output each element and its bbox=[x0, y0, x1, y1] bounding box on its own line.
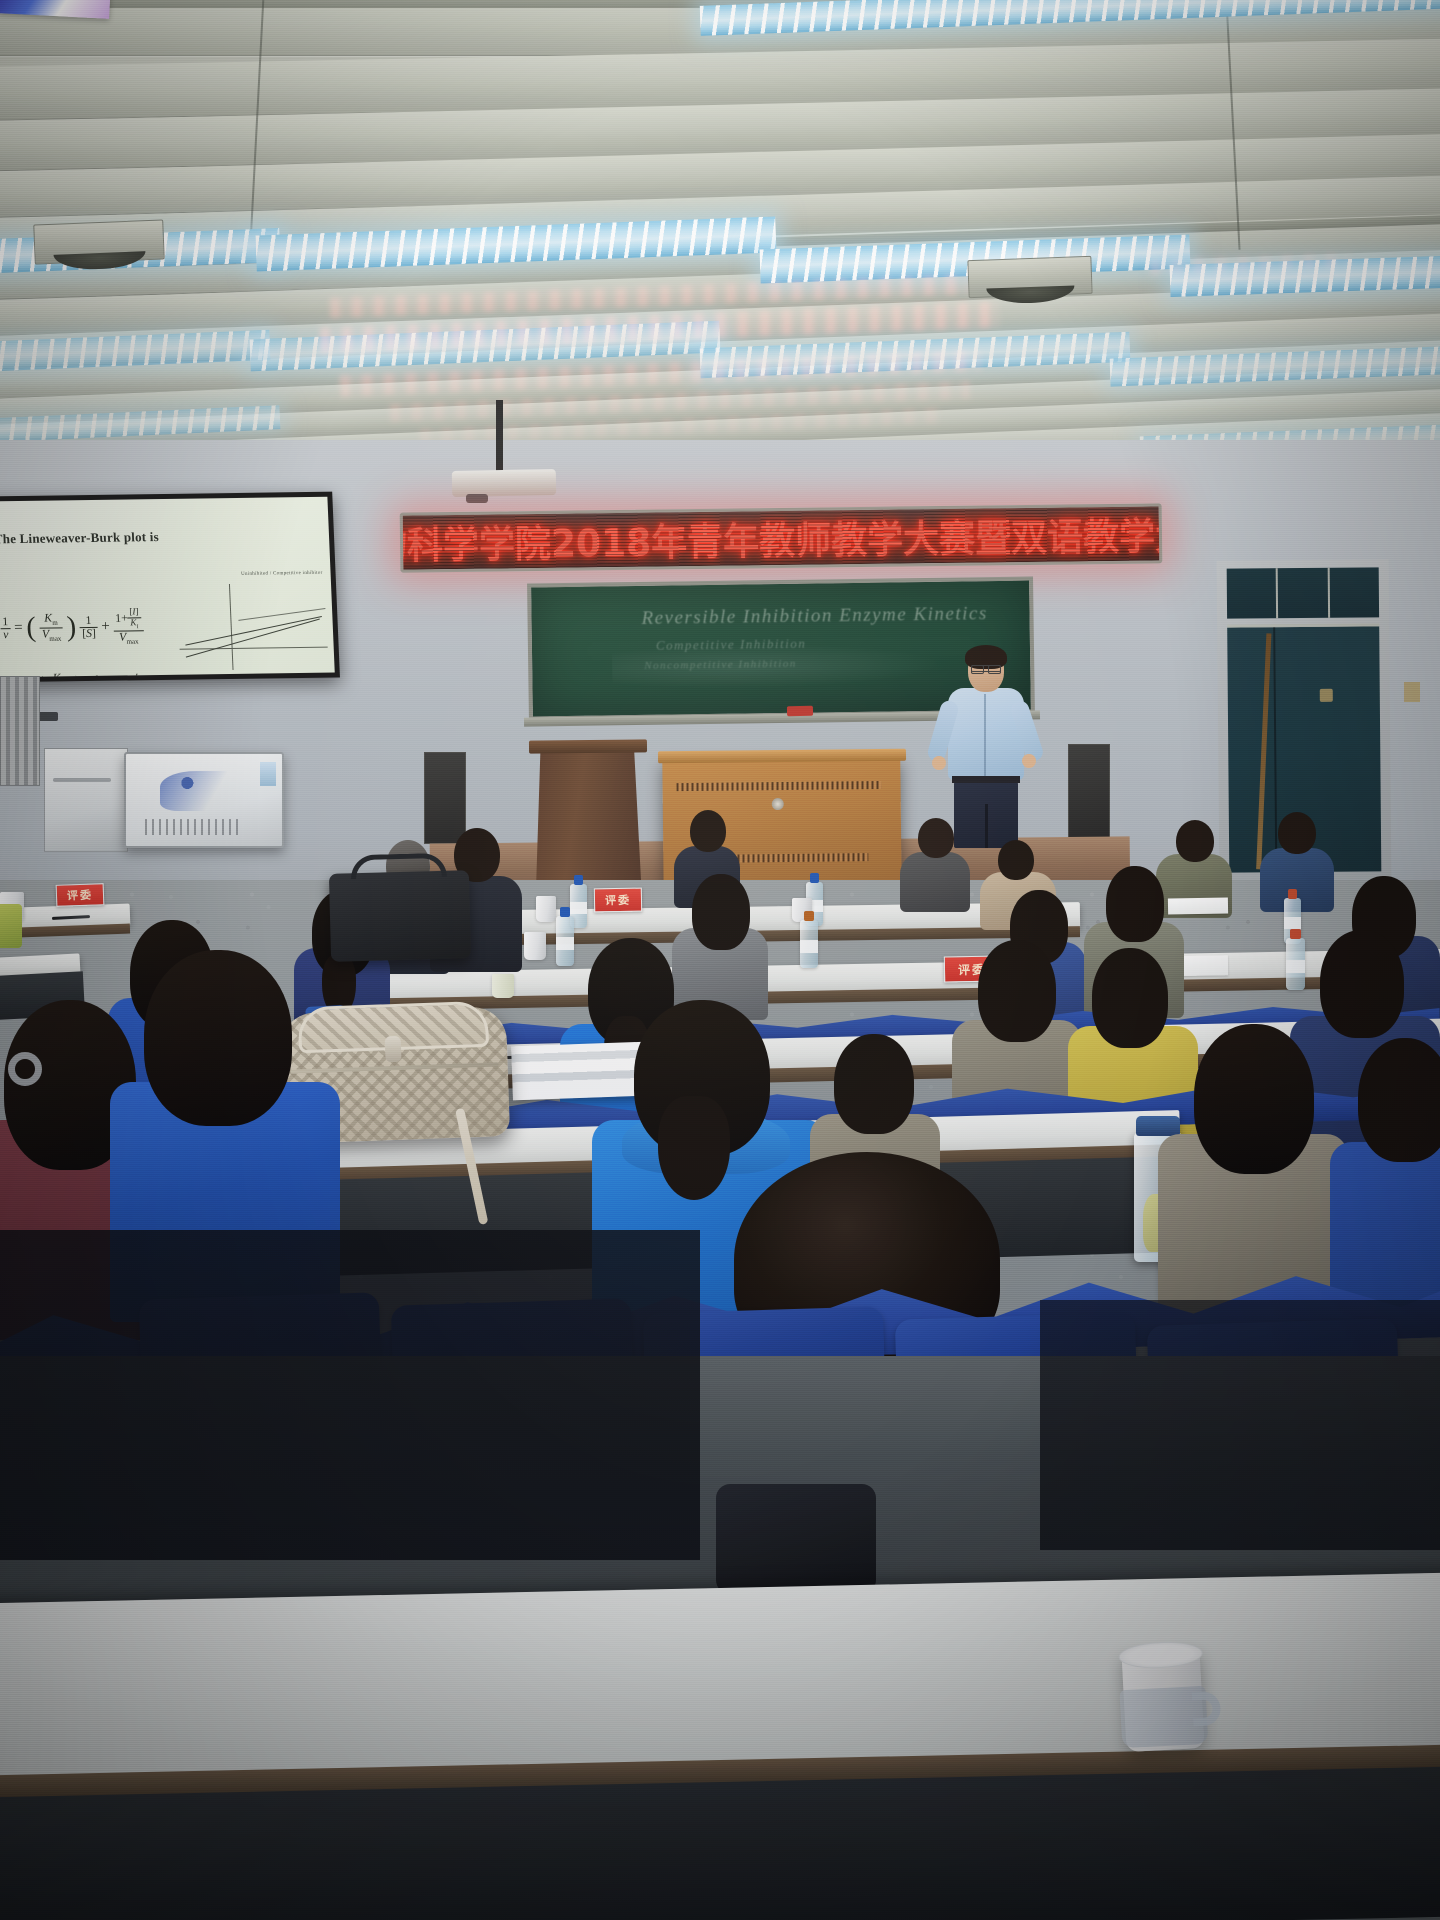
person-head bbox=[918, 818, 954, 858]
plant-pot bbox=[0, 904, 22, 948]
blackboard-line-3: Noncompetitive Inhibition bbox=[644, 658, 797, 672]
name-card-centre-text: 评委 bbox=[605, 892, 631, 908]
name-card-left: 评委 bbox=[56, 883, 105, 907]
presenter-hand-right bbox=[1022, 754, 1036, 768]
slide-equation-1: 1v = ( KmVmax ) 1[S] + 1+[I]KI Vmax bbox=[0, 607, 144, 648]
projection-screen-surface: The Lineweaver-Burk plot is 1v = ( KmVma… bbox=[0, 497, 335, 678]
satchel-handle bbox=[351, 853, 447, 879]
presenter-belt bbox=[952, 776, 1020, 783]
under-desk-shadow-right bbox=[1040, 1300, 1440, 1550]
projection-screen: The Lineweaver-Burk plot is 1v = ( KmVma… bbox=[0, 492, 340, 683]
person-hair-long bbox=[692, 874, 750, 950]
person-head bbox=[998, 840, 1034, 880]
freezer-sticker bbox=[260, 762, 276, 786]
led-banner: 植物科学学院2018年青年教师教学大赛暨双语教学大赛 bbox=[400, 503, 1163, 572]
name-card-centre: 评委 bbox=[594, 888, 642, 913]
glasses-icon bbox=[971, 665, 1001, 672]
projector-lens-icon bbox=[466, 494, 488, 503]
audience-person-r4-f bbox=[1330, 1038, 1440, 1318]
console-lock-icon bbox=[772, 798, 784, 810]
person-hair-long bbox=[1320, 930, 1404, 1038]
cup-r2-a bbox=[524, 932, 546, 960]
cup-r2-b bbox=[492, 974, 514, 998]
lecture-hall-photo: 植物科学学院2018年青年教师教学大赛暨双语教学大赛 The Lineweave… bbox=[0, 0, 1440, 1920]
lab-cabinet bbox=[44, 748, 128, 852]
slide-plot-caption: Uninhibited / Competitive inhibitor bbox=[241, 571, 323, 577]
cup-r1 bbox=[536, 896, 556, 922]
person-hair-long bbox=[1106, 866, 1164, 942]
chalk-eraser bbox=[787, 706, 813, 716]
chest-freezer bbox=[124, 752, 284, 848]
person-hair-long bbox=[1092, 948, 1168, 1048]
name-card-left-text: 评委 bbox=[67, 887, 94, 904]
radiator bbox=[0, 676, 40, 786]
person-hair-long bbox=[144, 950, 292, 1126]
water-bottle-r2-b bbox=[800, 920, 818, 968]
freezer-graphic bbox=[160, 771, 250, 811]
satchel bbox=[329, 870, 471, 962]
lectern-top bbox=[529, 739, 647, 753]
wall-speaker-right bbox=[1068, 744, 1110, 840]
person-head bbox=[690, 810, 726, 852]
floor-bag bbox=[716, 1484, 876, 1594]
person-hair-long bbox=[834, 1034, 914, 1134]
cabinet-handle[interactable] bbox=[53, 778, 110, 782]
slide-title: The Lineweaver-Burk plot is bbox=[0, 529, 159, 547]
slide-plot bbox=[177, 583, 329, 671]
door-knob[interactable] bbox=[1320, 689, 1333, 702]
projector bbox=[452, 469, 556, 497]
led-banner-text: 植物科学学院2018年青年教师教学大赛暨双语教学大赛 bbox=[400, 505, 1163, 570]
person-head bbox=[1278, 812, 1316, 854]
paper-cup-foreground bbox=[1121, 1648, 1204, 1752]
hair-tie bbox=[8, 1052, 42, 1086]
door-transom-window bbox=[1227, 567, 1379, 618]
handbag-clasp bbox=[385, 1036, 402, 1063]
person-hair-long bbox=[1358, 1038, 1440, 1162]
lectern bbox=[534, 744, 642, 895]
person-hair-long bbox=[978, 940, 1056, 1042]
blackboard-line-2: Competitive Inhibition bbox=[656, 636, 807, 654]
person-body bbox=[900, 852, 970, 912]
ceiling bbox=[0, 0, 1440, 470]
ceiling-speaker-left bbox=[33, 219, 165, 264]
wall-socket bbox=[1404, 682, 1420, 702]
audience-person-r1-b bbox=[900, 818, 970, 910]
under-desk-shadow bbox=[0, 1230, 700, 1560]
projector-mount bbox=[496, 400, 503, 476]
presenter-hand-left bbox=[932, 756, 946, 770]
blackboard-line-1: Reversible Inhibition Enzyme Kinetics bbox=[641, 603, 988, 630]
ceiling-speaker-right bbox=[967, 256, 1092, 298]
presenter-shirt bbox=[948, 688, 1024, 780]
freezer-vents bbox=[145, 819, 242, 835]
person-head bbox=[1176, 820, 1214, 862]
person-hair-long bbox=[1194, 1024, 1314, 1174]
